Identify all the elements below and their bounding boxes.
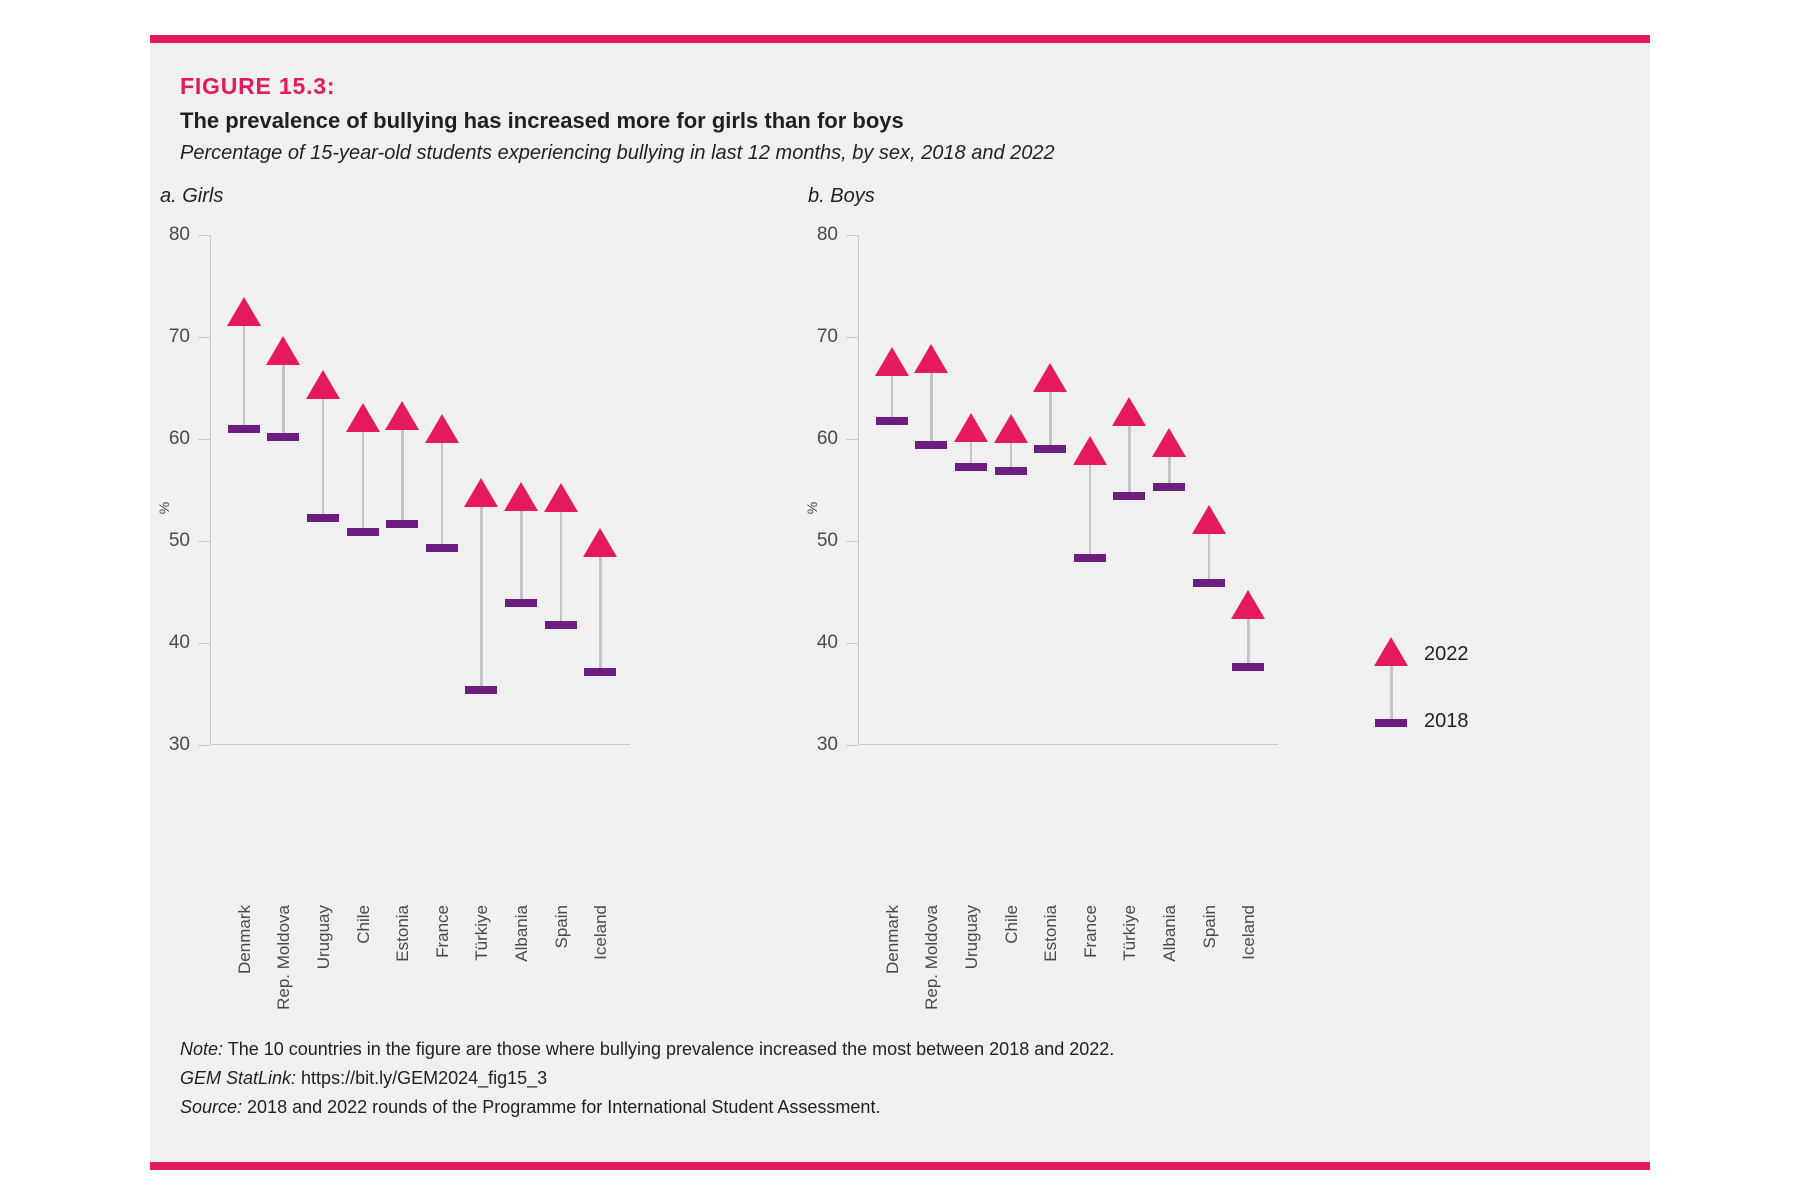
marker-2022[interactable] <box>1112 397 1146 426</box>
marker-2022[interactable] <box>346 403 380 432</box>
x-axis-label-slot: France <box>433 745 451 895</box>
x-axis-label-slot: Iceland <box>1239 745 1257 895</box>
marker-2022[interactable] <box>306 370 340 399</box>
y-axis-tick-label: 80 <box>817 224 838 246</box>
figure-title: The prevalence of bullying has increased… <box>180 108 904 134</box>
change-stem <box>599 557 602 671</box>
x-axis-label-slot: Estonia <box>393 745 411 895</box>
top-rule <box>150 35 1650 43</box>
y-axis-tick-label: 40 <box>817 632 838 654</box>
x-axis-label-slot: Spain <box>552 745 570 895</box>
y-axis-tick-label: 30 <box>169 734 190 756</box>
y-axis-line <box>210 235 211 745</box>
change-stem <box>441 443 444 548</box>
footer-source: Source: 2018 and 2022 rounds of the Prog… <box>180 1093 1580 1122</box>
x-axis-tick-label: Uruguay <box>962 905 982 969</box>
marker-2018[interactable] <box>426 544 458 552</box>
x-axis-label-slot: Albania <box>1160 745 1178 895</box>
figure-subtitle: Percentage of 15-year-old students exper… <box>180 142 1055 165</box>
x-axis-tick-label: Albania <box>512 905 532 962</box>
change-stem <box>1089 465 1092 559</box>
x-axis-label-slot: Iceland <box>591 745 609 895</box>
chart-panel-girls: a. Girls % 304050607080DenmarkRep. Moldo… <box>160 185 820 1005</box>
marker-2022[interactable] <box>1073 436 1107 465</box>
bottom-rule <box>150 1162 1650 1170</box>
x-axis-label-slot: Chile <box>354 745 372 895</box>
marker-2022[interactable] <box>464 478 498 507</box>
y-axis-tick-label: 70 <box>817 326 838 348</box>
marker-2018[interactable] <box>545 621 577 629</box>
y-axis-tick: 80 <box>846 235 858 236</box>
x-axis-tick-label: Türkiye <box>472 905 492 961</box>
change-stem <box>243 326 246 429</box>
figure-number: FIGURE 15.3: <box>180 73 335 100</box>
marker-2018[interactable] <box>1113 492 1145 500</box>
marker-2018[interactable] <box>1193 579 1225 587</box>
footer-statlink: GEM StatLink: https://bit.ly/GEM2024_fig… <box>180 1064 1580 1093</box>
x-axis-label-slot: Rep. Moldova <box>922 745 940 895</box>
marker-2018[interactable] <box>386 520 418 528</box>
y-axis-tick: 50 <box>198 541 210 542</box>
y-axis-tick: 60 <box>198 439 210 440</box>
marker-2018[interactable] <box>995 467 1027 475</box>
marker-2022[interactable] <box>1033 363 1067 392</box>
y-axis-tick-label: 60 <box>169 428 190 450</box>
change-stem <box>520 511 523 603</box>
figure-footer: Note: The 10 countries in the figure are… <box>180 1035 1580 1122</box>
x-axis-label-slot: Türkiye <box>1120 745 1138 895</box>
x-axis-tick-label: Chile <box>354 905 374 944</box>
change-stem <box>1049 392 1052 449</box>
x-axis-tick-label: Türkiye <box>1120 905 1140 961</box>
panel-label-boys: b. Boys <box>808 185 875 208</box>
x-axis-tick-label: Denmark <box>235 905 255 974</box>
change-stem <box>891 376 894 421</box>
marker-2018[interactable] <box>1153 483 1185 491</box>
marker-2022[interactable] <box>544 483 578 512</box>
marker-2018[interactable] <box>876 417 908 425</box>
x-axis-tick-label: Estonia <box>1041 905 1061 962</box>
marker-2022[interactable] <box>266 336 300 365</box>
marker-2022[interactable] <box>1192 505 1226 534</box>
change-stem <box>401 430 404 524</box>
x-axis-tick-label: Rep. Moldova <box>274 905 294 1010</box>
legend-stem <box>1390 665 1393 721</box>
marker-2022[interactable] <box>954 413 988 442</box>
x-axis-tick-label: Denmark <box>883 905 903 974</box>
x-axis-tick-label: Iceland <box>1239 905 1259 960</box>
footer-note-label: Note: <box>180 1039 223 1059</box>
marker-2018[interactable] <box>505 599 537 607</box>
x-axis-tick-label: France <box>1081 905 1101 958</box>
change-stem <box>322 399 325 517</box>
marker-2022[interactable] <box>227 297 261 326</box>
y-axis-label-boys: % <box>804 502 820 514</box>
footer-source-label: Source: <box>180 1097 242 1117</box>
figure-card: FIGURE 15.3: The prevalence of bullying … <box>150 35 1650 1170</box>
x-axis-tick-label: Uruguay <box>314 905 334 969</box>
legend-triangle-2022-icon <box>1374 637 1408 666</box>
x-axis-label-slot: Türkiye <box>472 745 490 895</box>
change-stem <box>1208 534 1211 583</box>
x-axis-label-slot: Denmark <box>235 745 253 895</box>
marker-2018[interactable] <box>267 433 299 441</box>
y-axis-tick: 30 <box>846 745 858 746</box>
y-axis-tick-label: 60 <box>817 428 838 450</box>
plot-area-girls: % 304050607080DenmarkRep. MoldovaUruguay… <box>210 235 630 745</box>
y-axis-tick-label: 50 <box>817 530 838 552</box>
change-stem <box>1128 426 1131 496</box>
marker-2018[interactable] <box>955 463 987 471</box>
marker-2018[interactable] <box>228 425 260 433</box>
y-axis-tick: 70 <box>198 337 210 338</box>
change-stem <box>282 365 285 437</box>
marker-2018[interactable] <box>1074 554 1106 562</box>
change-stem <box>1247 619 1250 668</box>
x-axis-tick-label: Spain <box>1200 905 1220 948</box>
marker-2018[interactable] <box>465 686 497 694</box>
x-axis-tick-label: Iceland <box>591 905 611 960</box>
y-axis-tick: 60 <box>846 439 858 440</box>
x-axis-tick-label: Estonia <box>393 905 413 962</box>
legend-bar-2018-icon <box>1375 719 1407 727</box>
x-axis-label-slot: Albania <box>512 745 530 895</box>
marker-2022[interactable] <box>1152 428 1186 457</box>
change-stem <box>930 373 933 445</box>
y-axis-tick-label: 80 <box>169 224 190 246</box>
x-axis-label-slot: Rep. Moldova <box>274 745 292 895</box>
y-axis-tick: 40 <box>846 643 858 644</box>
y-axis-tick-label: 40 <box>169 632 190 654</box>
marker-2018[interactable] <box>347 528 379 536</box>
panel-label-girls: a. Girls <box>160 185 223 208</box>
footer-statlink-text: https://bit.ly/GEM2024_fig15_3 <box>296 1068 547 1088</box>
x-axis-label-slot: Spain <box>1200 745 1218 895</box>
marker-2022[interactable] <box>994 414 1028 443</box>
legend-label-2022: 2022 <box>1424 643 1469 666</box>
y-axis-tick: 80 <box>198 235 210 236</box>
y-axis-tick-label: 50 <box>169 530 190 552</box>
marker-2018[interactable] <box>1034 445 1066 453</box>
y-axis-tick: 30 <box>198 745 210 746</box>
y-axis-tick: 40 <box>198 643 210 644</box>
change-stem <box>560 512 563 624</box>
marker-2022[interactable] <box>504 482 538 511</box>
plot-area-boys: % 2022 2018 304050607080DenmarkRep. Mold… <box>858 235 1278 745</box>
x-axis-label-slot: Uruguay <box>314 745 332 895</box>
y-axis-line <box>858 235 859 745</box>
x-axis-label-slot: Uruguay <box>962 745 980 895</box>
chart-panel-boys: b. Boys % 2022 2018 304050607080DenmarkR… <box>808 185 1468 1005</box>
x-axis-tick-label: Rep. Moldova <box>922 905 942 1010</box>
y-axis-label-girls: % <box>156 502 172 514</box>
y-axis-tick-label: 70 <box>169 326 190 348</box>
x-axis-tick-label: Spain <box>552 905 572 948</box>
legend-label-2018: 2018 <box>1424 710 1469 733</box>
footer-statlink-label: GEM StatLink: <box>180 1068 296 1088</box>
x-axis-tick-label: France <box>433 905 453 958</box>
marker-2022[interactable] <box>385 401 419 430</box>
marker-2022[interactable] <box>425 414 459 443</box>
x-axis-tick-label: Chile <box>1002 905 1022 944</box>
marker-2018[interactable] <box>307 514 339 522</box>
footer-source-text: 2018 and 2022 rounds of the Programme fo… <box>242 1097 880 1117</box>
x-axis-label-slot: Chile <box>1002 745 1020 895</box>
x-axis-label-slot: Estonia <box>1041 745 1059 895</box>
x-axis-label-slot: France <box>1081 745 1099 895</box>
y-axis-tick: 50 <box>846 541 858 542</box>
change-stem <box>362 432 365 532</box>
marker-2018[interactable] <box>584 668 616 676</box>
marker-2022[interactable] <box>1231 590 1265 619</box>
footer-note: Note: The 10 countries in the figure are… <box>180 1035 1580 1064</box>
marker-2022[interactable] <box>875 347 909 376</box>
x-axis-tick-label: Albania <box>1160 905 1180 962</box>
x-axis-label-slot: Denmark <box>883 745 901 895</box>
marker-2022[interactable] <box>583 528 617 557</box>
marker-2022[interactable] <box>914 344 948 373</box>
y-axis-tick: 70 <box>846 337 858 338</box>
marker-2018[interactable] <box>915 441 947 449</box>
y-axis-tick-label: 30 <box>817 734 838 756</box>
marker-2018[interactable] <box>1232 663 1264 671</box>
footer-note-text: The 10 countries in the figure are those… <box>223 1039 1114 1059</box>
change-stem <box>480 507 483 690</box>
